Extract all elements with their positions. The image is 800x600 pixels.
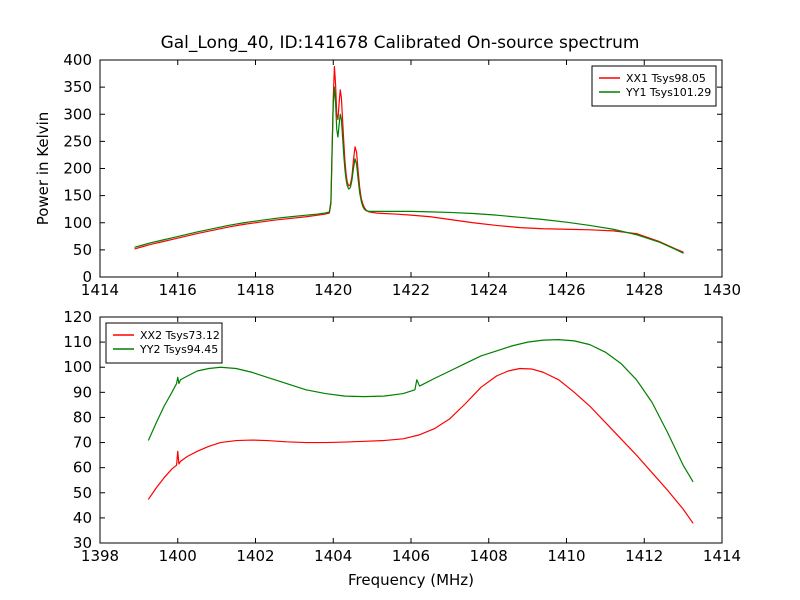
legend-label: XX2 Tsys73.12: [140, 329, 220, 342]
legend: XX2 Tsys73.12YY2 Tsys94.45: [106, 323, 222, 363]
page-title: Gal_Long_40, ID:141678 Calibrated On-sou…: [161, 33, 640, 53]
y-axis-label: Power in Kelvin: [34, 112, 52, 226]
legend-label: YY1 Tsys101.29: [625, 86, 711, 99]
y-tick-label: 0: [82, 268, 92, 286]
y-tick-label: 100: [63, 214, 92, 232]
x-tick-label: 1412: [625, 547, 663, 565]
y-tick-label: 110: [63, 333, 92, 351]
x-tick-label: 1418: [236, 281, 274, 299]
x-tick-label: 1416: [159, 281, 197, 299]
x-tick-label: 1410: [547, 547, 585, 565]
legend-label: XX1 Tsys98.05: [626, 72, 706, 85]
y-tick-label: 200: [63, 160, 92, 178]
x-tick-label: 1424: [470, 281, 508, 299]
figure-canvas: Gal_Long_40, ID:141678 Calibrated On-sou…: [0, 0, 800, 600]
x-tick-label: 1422: [392, 281, 430, 299]
x-tick-label: 1414: [703, 547, 741, 565]
x-tick-label: 1430: [703, 281, 741, 299]
y-tick-label: 350: [63, 78, 92, 96]
legend-label: YY2 Tsys94.45: [139, 343, 218, 356]
y-tick-label: 400: [63, 51, 92, 69]
y-tick-label: 120: [63, 308, 92, 326]
y-tick-label: 80: [73, 408, 92, 426]
y-tick-label: 50: [73, 484, 92, 502]
x-tick-label: 1426: [547, 281, 585, 299]
y-tick-label: 30: [73, 534, 92, 552]
x-tick-label: 1406: [392, 547, 430, 565]
x-axis-label: Frequency (MHz): [348, 571, 474, 589]
y-tick-label: 90: [73, 383, 92, 401]
x-tick-label: 1402: [236, 547, 274, 565]
y-tick-label: 70: [73, 434, 92, 452]
y-tick-label: 50: [73, 241, 92, 259]
y-tick-label: 40: [73, 509, 92, 527]
x-tick-label: 1420: [314, 281, 352, 299]
x-tick-label: 1404: [314, 547, 352, 565]
spectrum-plot: Gal_Long_40, ID:141678 Calibrated On-sou…: [0, 0, 800, 600]
y-tick-label: 250: [63, 132, 92, 150]
y-tick-label: 150: [63, 187, 92, 205]
legend: XX1 Tsys98.05YY1 Tsys101.29: [592, 66, 716, 106]
x-tick-label: 1408: [470, 547, 508, 565]
y-tick-label: 60: [73, 459, 92, 477]
x-tick-label: 1428: [625, 281, 663, 299]
y-tick-label: 300: [63, 105, 92, 123]
x-tick-label: 1400: [159, 547, 197, 565]
y-tick-label: 100: [63, 358, 92, 376]
